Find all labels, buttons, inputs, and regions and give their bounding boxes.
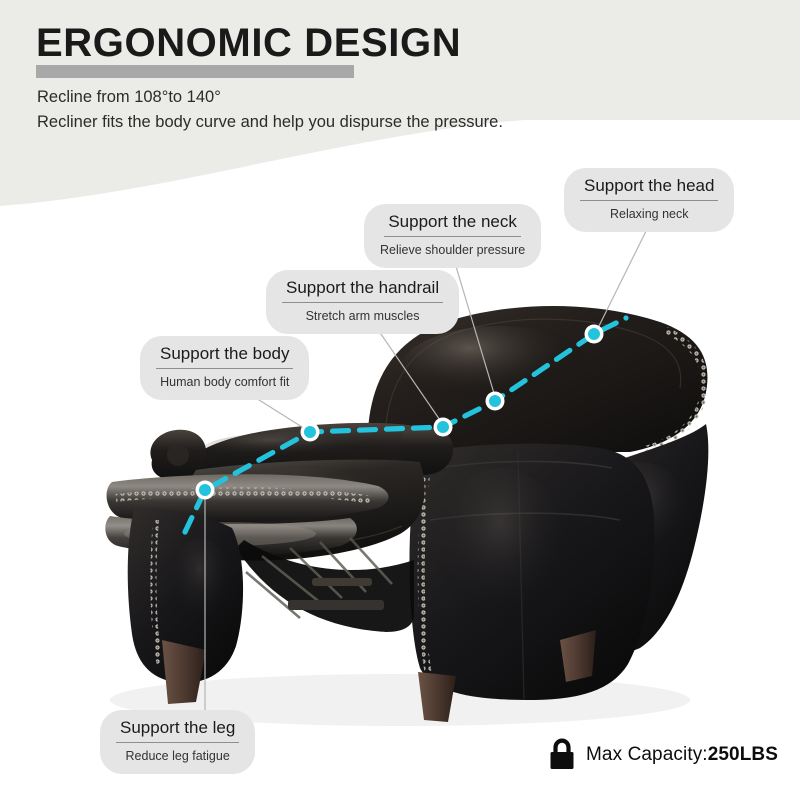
callout-handrail[interactable]: Support the handrail Stretch arm muscles: [266, 270, 459, 334]
ergonomic-curve-overlay: [0, 0, 800, 800]
max-capacity-value: 250LBS: [708, 744, 778, 765]
callout-head[interactable]: Support the head Relaxing neck: [564, 168, 734, 232]
max-capacity-text: Max Capacity:250LBS: [586, 744, 778, 766]
max-capacity-label: Max Capacity:: [586, 744, 708, 765]
callout-body-subtitle: Human body comfort fit: [156, 374, 293, 390]
callout-body-title: Support the body: [156, 343, 293, 369]
callout-neck-title: Support the neck: [384, 211, 521, 237]
infographic-canvas: ERGONOMIC DESIGN Recline from 108°to 140…: [0, 0, 800, 800]
lock-icon: [547, 738, 577, 772]
callout-leg-title: Support the leg: [116, 717, 239, 743]
callout-head-subtitle: Relaxing neck: [580, 206, 718, 222]
callout-handrail-title: Support the handrail: [282, 277, 443, 303]
callout-leg[interactable]: Support the leg Reduce leg fatigue: [100, 710, 255, 774]
callout-body[interactable]: Support the body Human body comfort fit: [140, 336, 309, 400]
callout-neck-subtitle: Relieve shoulder pressure: [380, 242, 525, 258]
callout-neck[interactable]: Support the neck Relieve shoulder pressu…: [364, 204, 541, 268]
callout-head-title: Support the head: [580, 175, 718, 201]
callout-leg-subtitle: Reduce leg fatigue: [116, 748, 239, 764]
max-capacity-badge: Max Capacity:250LBS: [547, 738, 778, 772]
callout-handrail-subtitle: Stretch arm muscles: [282, 308, 443, 324]
